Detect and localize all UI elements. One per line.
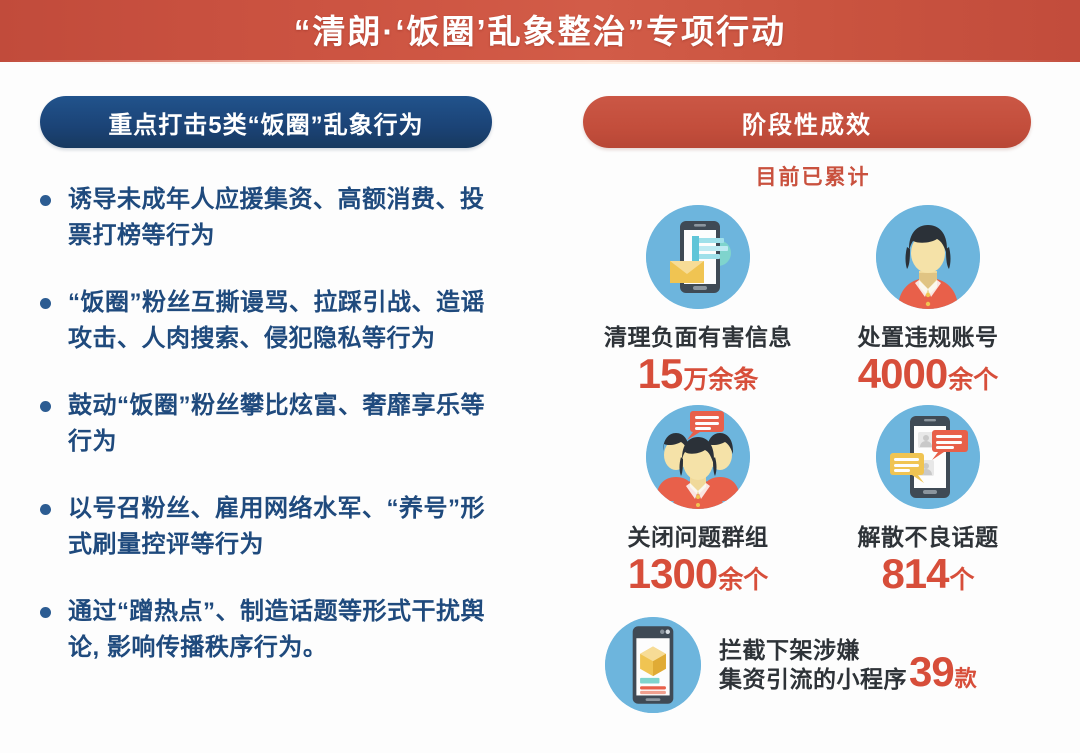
list-item-text: 鼓动“饭圈”粉丝攀比炫富、奢靡享乐等行为 bbox=[68, 388, 500, 459]
page-header-banner: “清朗·‘饭圈’乱象整治”专项行动 bbox=[0, 0, 1080, 62]
bullet-dot-icon bbox=[40, 298, 51, 309]
bullet-dot-icon bbox=[40, 401, 51, 412]
list-item: 鼓动“饭圈”粉丝攀比炫富、奢靡享乐等行为 bbox=[40, 388, 540, 459]
list-item: 通过“蹭热点”、制造话题等形式干扰舆论, 影响传播秩序行为。 bbox=[40, 594, 540, 665]
group-chat-icon bbox=[646, 405, 750, 509]
bullet-dot-icon bbox=[40, 607, 51, 618]
mini-program-icon-art bbox=[605, 617, 701, 713]
phone-message-icon-art bbox=[646, 205, 750, 309]
stat-value: 15 万余条 bbox=[638, 353, 759, 395]
phone-message-icon bbox=[646, 205, 750, 309]
stat-label: 清理负面有害信息 bbox=[604, 318, 792, 352]
stat-label: 处置违规账号 bbox=[858, 318, 999, 352]
stat-number: 814 bbox=[881, 553, 948, 595]
stat-cell-handled-accounts: 处置违规账号 4000 余个 bbox=[813, 205, 1043, 395]
stat-number: 4000 bbox=[858, 353, 947, 395]
stat-unit: 余个 bbox=[718, 568, 768, 593]
infographic-page: “清朗·‘饭圈’乱象整治”专项行动 重点打击5类“饭圈”乱象行为 诱导未成年人应… bbox=[0, 0, 1080, 753]
right-panel-header-pill: 阶段性成效 bbox=[583, 96, 1031, 148]
page-title: “清朗·‘饭圈’乱象整治”专项行动 bbox=[294, 15, 786, 48]
stat-value: 1300 余个 bbox=[628, 553, 768, 595]
list-item-text: 以号召粉丝、雇用网络水军、“养号”形式刷量控评等行为 bbox=[68, 491, 500, 562]
stat-unit: 万余条 bbox=[683, 368, 758, 393]
stat-value: 814 个 bbox=[881, 553, 974, 595]
stat-label: 关闭问题群组 bbox=[628, 518, 769, 552]
right-panel-header-label: 阶段性成效 bbox=[742, 105, 872, 140]
phone-chat-bubbles-icon bbox=[876, 405, 980, 509]
stat-number: 15 bbox=[638, 353, 683, 395]
stat-unit: 款 bbox=[955, 668, 977, 690]
header-glow-divider bbox=[0, 60, 1080, 64]
stat-unit: 余个 bbox=[948, 368, 998, 393]
bullet-dot-icon bbox=[40, 195, 51, 206]
right-panel-subtitle: 目前已累计 bbox=[583, 161, 1043, 191]
wide-stat-text: 拦截下架涉嫌 集资引流的小程序 39 款 bbox=[719, 636, 977, 695]
wide-stat-value: 39 款 bbox=[909, 651, 977, 693]
group-chat-icon-art bbox=[646, 405, 750, 509]
phone-chat-bubbles-icon-art bbox=[876, 405, 980, 509]
left-panel: 重点打击5类“饭圈”乱象行为 诱导未成年人应援集资、高额消费、投票打榜等行为 “… bbox=[40, 96, 540, 697]
statistics-grid: 清理负面有害信息 15 万余条 bbox=[583, 205, 1043, 595]
stat-unit: 个 bbox=[950, 568, 975, 593]
stat-cell-cleaned-info: 清理负面有害信息 15 万余条 bbox=[583, 205, 813, 395]
stat-cell-dissolved-topics: 解散不良话题 814 个 bbox=[813, 405, 1043, 595]
list-item: 以号召粉丝、雇用网络水军、“养号”形式刷量控评等行为 bbox=[40, 491, 540, 562]
stat-value: 4000 余个 bbox=[858, 353, 998, 395]
list-item-text: “饭圈”粉丝互撕谩骂、拉踩引战、造谣攻击、人肉搜索、侵犯隐私等行为 bbox=[68, 285, 500, 356]
user-avatar-icon-art bbox=[876, 205, 980, 309]
list-item-text: 通过“蹭热点”、制造话题等形式干扰舆论, 影响传播秩序行为。 bbox=[68, 594, 500, 665]
stat-cell-blocked-miniprograms: 拦截下架涉嫌 集资引流的小程序 39 款 bbox=[583, 617, 1043, 713]
mini-program-icon bbox=[605, 617, 701, 713]
left-panel-header-pill: 重点打击5类“饭圈”乱象行为 bbox=[40, 96, 492, 148]
list-item: “饭圈”粉丝互撕谩骂、拉踩引战、造谣攻击、人肉搜索、侵犯隐私等行为 bbox=[40, 285, 540, 356]
list-item-text: 诱导未成年人应援集资、高额消费、投票打榜等行为 bbox=[68, 182, 500, 253]
wide-stat-label-line2: 集资引流的小程序 bbox=[719, 665, 907, 694]
list-item: 诱导未成年人应援集资、高额消费、投票打榜等行为 bbox=[40, 182, 540, 253]
stat-cell-closed-groups: 关闭问题群组 1300 余个 bbox=[583, 405, 813, 595]
violation-bullet-list: 诱导未成年人应援集资、高额消费、投票打榜等行为 “饭圈”粉丝互撕谩骂、拉踩引战、… bbox=[40, 182, 540, 665]
stat-number: 39 bbox=[909, 651, 954, 693]
wide-stat-label-line1: 拦截下架涉嫌 bbox=[719, 636, 907, 665]
user-avatar-icon bbox=[876, 205, 980, 309]
left-panel-header-label: 重点打击5类“饭圈”乱象行为 bbox=[108, 105, 423, 140]
stat-number: 1300 bbox=[628, 553, 717, 595]
bullet-dot-icon bbox=[40, 504, 51, 515]
stat-label: 解散不良话题 bbox=[858, 518, 999, 552]
wide-stat-label: 拦截下架涉嫌 集资引流的小程序 bbox=[719, 636, 907, 695]
right-panel: 阶段性成效 目前已累计 bbox=[583, 96, 1043, 713]
